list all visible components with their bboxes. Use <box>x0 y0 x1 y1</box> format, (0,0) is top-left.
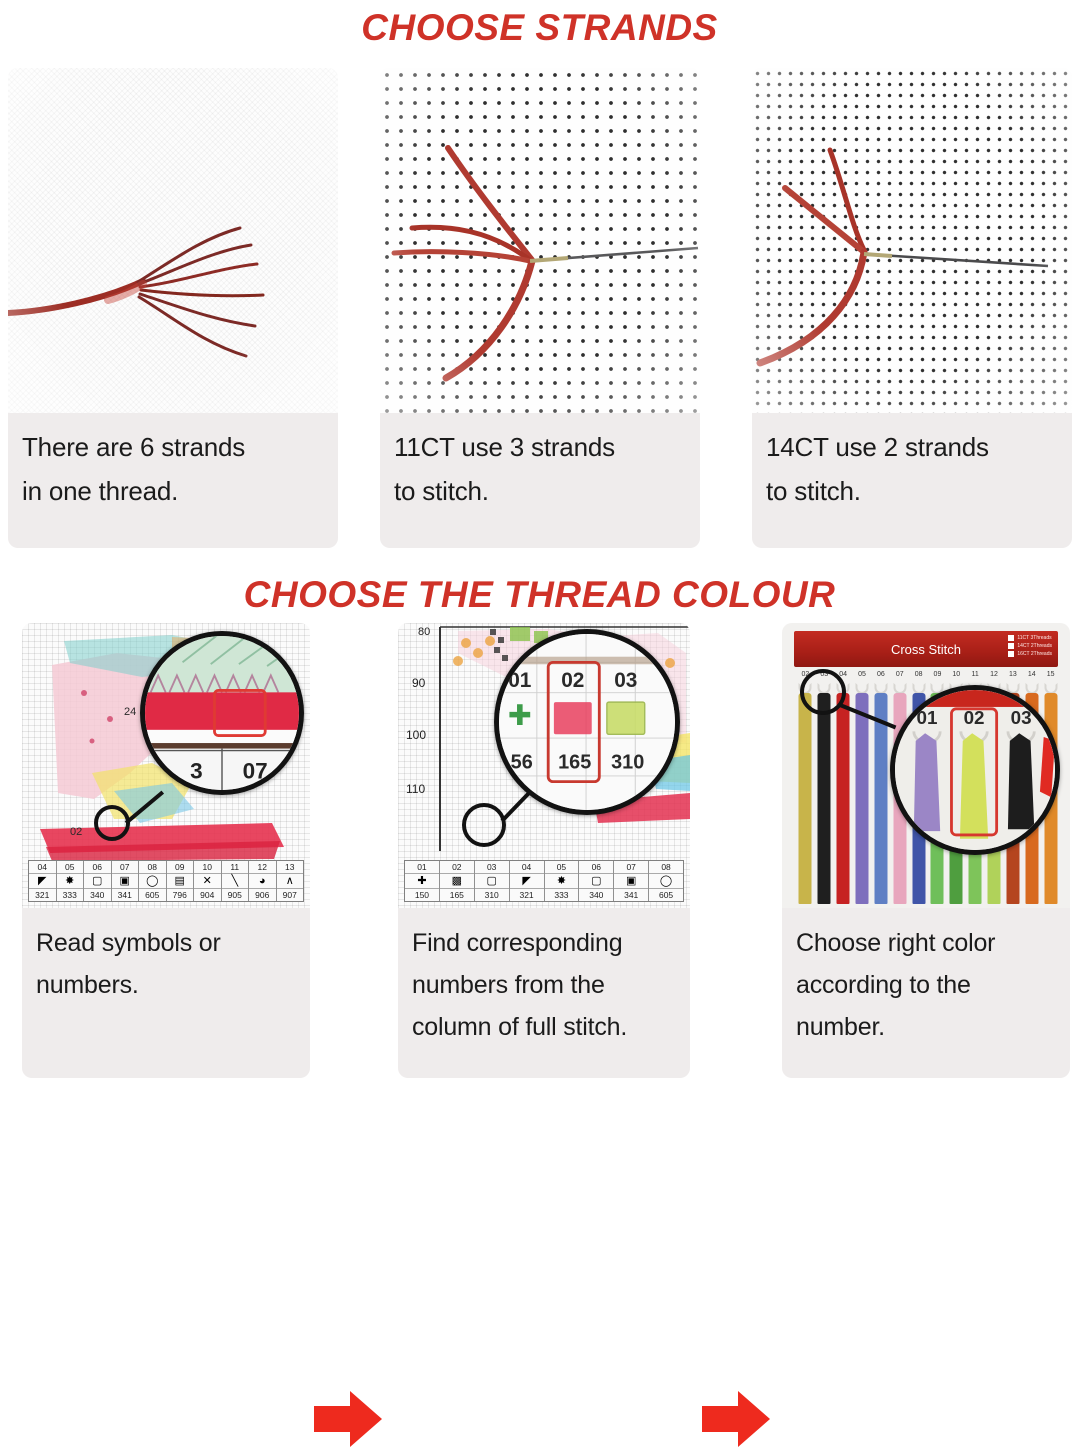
axis-tick-90: 90 <box>412 676 426 690</box>
key-symbol-icon: ∧ <box>277 873 304 889</box>
axis-tick-110: 110 <box>406 782 425 796</box>
magnified-skein-detail: 01 02 03 <box>895 690 1055 850</box>
card-choose-colour: Cross Stitch 11CT 3Threads 14CT 2Threads <box>782 623 1070 1078</box>
key-dmc-code: 906 <box>249 889 276 901</box>
key-index: 02 <box>440 861 474 873</box>
caption-read-symbols: Read symbols or numbers. <box>22 908 310 1016</box>
key-dmc-code: 904 <box>194 889 221 901</box>
key-column: 05✸333 <box>545 861 580 901</box>
magnified-index-01: 01 <box>508 669 531 692</box>
key-index: 11 <box>222 861 249 873</box>
skein <box>834 683 853 904</box>
legend-label: 16CT 2Threads <box>1017 651 1052 657</box>
card-read-symbols: 24 02 <box>22 623 310 1078</box>
key-index: 07 <box>112 861 139 873</box>
arrow-numbers-to-colour-icon <box>700 1388 772 1450</box>
legend-checkbox-icon <box>1008 643 1014 649</box>
key-column: 08◯605 <box>139 861 167 901</box>
axis-tick-100: 100 <box>406 728 426 742</box>
key-index: 04 <box>510 861 544 873</box>
legend-checkbox-icon <box>1008 651 1014 657</box>
key-index: 04 <box>29 861 56 873</box>
photo-pattern-chart: 24 02 <box>22 623 310 908</box>
key-index: 08 <box>649 861 683 873</box>
key-column: 12◕906 <box>249 861 277 901</box>
caption-line: Choose right color <box>796 922 1056 964</box>
key-index: 12 <box>249 861 276 873</box>
magnified-number-detail: 01 02 03 ✚ 56 165 310 <box>499 634 675 810</box>
photo-floss-card: Cross Stitch 11CT 3Threads 14CT 2Threads <box>782 623 1070 908</box>
key-dmc-code: 340 <box>84 889 111 901</box>
photo-14ct <box>752 68 1072 413</box>
section-title-choose-thread-colour: CHOOSE THE THREAD COLOUR <box>0 561 1079 623</box>
key-dmc-code: 905 <box>222 889 249 901</box>
card-11ct: 11CT use 3 strands to stitch. <box>380 68 700 548</box>
key-dmc-code: 333 <box>57 889 84 901</box>
legend-row: 11CT 3Threads <box>1008 635 1052 641</box>
key-column: 09▤796 <box>167 861 195 901</box>
key-dmc-code: 796 <box>167 889 194 901</box>
pattern-cell-label-24: 24 <box>124 706 136 718</box>
key-symbol-icon: ✕ <box>194 873 221 889</box>
key-dmc-code: 907 <box>277 889 304 901</box>
card-six-strands: There are 6 strands in one thread. <box>8 68 338 548</box>
legend-row: 16CT 2Threads <box>1008 651 1052 657</box>
key-symbol-icon: ▢ <box>84 873 111 889</box>
key-symbol-icon: ✸ <box>545 873 579 889</box>
key-column: 06▢340 <box>579 861 614 901</box>
magnified-skein-index-01: 01 <box>917 707 938 728</box>
magnified-code-03: 310 <box>611 751 644 773</box>
key-dmc-code: 341 <box>112 889 139 901</box>
key-symbol-icon: ✸ <box>57 873 84 889</box>
caption-line: Read symbols or <box>36 922 296 964</box>
legend-row: 14CT 2Threads <box>1008 643 1052 649</box>
key-index: 13 <box>277 861 304 873</box>
six-strand-thread-illustration <box>8 68 338 413</box>
magnified-number-07: 07 <box>243 759 268 784</box>
key-column: 01✚150 <box>405 861 440 901</box>
strands-card-row: There are 6 strands in one thread. <box>0 56 1079 561</box>
key-index: 08 <box>139 861 166 873</box>
key-dmc-code: 321 <box>29 889 56 901</box>
key-symbol-icon: ▤ <box>167 873 194 889</box>
floss-card-header: Cross Stitch 11CT 3Threads 14CT 2Threads <box>794 631 1058 667</box>
pattern-chart-canvas: 24 02 <box>22 623 310 908</box>
key-symbol-icon: ▣ <box>112 873 139 889</box>
caption-line: to stitch. <box>394 469 686 513</box>
magnified-index-02: 02 <box>561 669 584 692</box>
magnified-index-03: 03 <box>614 669 637 692</box>
key-symbol-icon: ◤ <box>510 873 544 889</box>
caption-line: column of full stitch. <box>412 1006 676 1048</box>
skein-floss <box>818 693 831 904</box>
skein-floss <box>837 693 850 904</box>
key-column: 07▣341 <box>112 861 140 901</box>
card-14ct: 14CT use 2 strands to stitch. <box>752 68 1072 548</box>
number-chart-canvas: 80 90 100 110 <box>398 623 690 908</box>
two-strand-needle-illustration <box>752 68 1072 413</box>
key-dmc-code: 333 <box>545 889 579 901</box>
key-index: 05 <box>545 861 579 873</box>
three-strand-needle-illustration <box>380 68 700 413</box>
key-index: 01 <box>405 861 439 873</box>
caption-line: There are 6 strands <box>22 425 324 469</box>
legend-label: 11CT 3Threads <box>1017 635 1051 641</box>
magnified-code-01: 56 <box>511 751 533 773</box>
magnifier-focus-circle <box>94 805 130 841</box>
magnified-pattern-detail: 3 07 <box>145 636 299 790</box>
key-symbol-icon: ✚ <box>405 873 439 889</box>
skein-floss <box>856 693 869 904</box>
caption-choose-colour: Choose right color according to the numb… <box>782 908 1070 1058</box>
key-column: 04◤321 <box>29 861 57 901</box>
key-dmc-code: 165 <box>440 889 474 901</box>
caption-line: Find corresponding <box>412 922 676 964</box>
caption-11ct: 11CT use 3 strands to stitch. <box>380 413 700 523</box>
caption-six-strands: There are 6 strands in one thread. <box>8 413 338 523</box>
key-index: 09 <box>167 861 194 873</box>
key-column: 10✕904 <box>194 861 222 901</box>
key-symbol-icon: ◕ <box>249 873 276 889</box>
symbol-key-table: 01✚15002▩16503▢31004◤32105✸33306▢34007▣3… <box>404 860 684 902</box>
key-symbol-icon: ◯ <box>649 873 683 889</box>
caption-line: to stitch. <box>766 469 1058 513</box>
key-column: 07▣341 <box>614 861 649 901</box>
key-index: 05 <box>57 861 84 873</box>
magnifier-lens: 01 02 03 <box>890 685 1060 855</box>
photo-six-strands <box>8 68 338 413</box>
key-index: 06 <box>579 861 613 873</box>
caption-line: according to the <box>796 964 1056 1006</box>
key-index: 06 <box>84 861 111 873</box>
photo-number-chart: 80 90 100 110 <box>398 623 690 908</box>
legend-checkbox-icon <box>1008 635 1014 641</box>
legend-label: 14CT 2Threads <box>1017 643 1052 649</box>
key-dmc-code: 341 <box>614 889 648 901</box>
arrow-symbols-to-numbers-icon <box>312 1388 384 1450</box>
caption-line: numbers from the <box>412 964 676 1006</box>
floss-card-legend: 11CT 3Threads 14CT 2Threads 16CT 2Thread… <box>1008 635 1052 657</box>
key-column: 11╲905 <box>222 861 250 901</box>
magnifier-lens: 01 02 03 ✚ 56 165 310 <box>494 629 680 815</box>
magnified-symbol-01: ✚ <box>508 700 532 732</box>
symbol-key-table: 04◤32105✸33306▢34007▣34108◯60509▤79610✕9… <box>28 860 304 902</box>
floss-card-title: Cross Stitch <box>891 642 961 657</box>
key-column: 05✸333 <box>57 861 85 901</box>
key-dmc-code: 321 <box>510 889 544 901</box>
colour-card-row: 24 02 <box>0 623 1079 1103</box>
key-column: 02▩165 <box>440 861 475 901</box>
key-column: 13∧907 <box>277 861 304 901</box>
key-dmc-code: 340 <box>579 889 613 901</box>
magnified-code-02: 165 <box>558 751 591 773</box>
key-symbol-icon: ▣ <box>614 873 648 889</box>
key-dmc-code: 150 <box>405 889 439 901</box>
key-dmc-code: 605 <box>139 889 166 901</box>
caption-line: 11CT use 3 strands <box>394 425 686 469</box>
magnifier-lens: 3 07 <box>140 631 304 795</box>
photo-11ct <box>380 68 700 413</box>
key-dmc-code: 310 <box>475 889 509 901</box>
key-symbol-icon: ▢ <box>475 873 509 889</box>
magnified-skein-index-03: 03 <box>1011 707 1032 728</box>
key-dmc-code: 605 <box>649 889 683 901</box>
magnifier-focus-circle <box>800 669 846 715</box>
axis-tick-80: 80 <box>418 626 430 638</box>
key-column: 04◤321 <box>510 861 545 901</box>
key-index: 10 <box>194 861 221 873</box>
caption-line: 14CT use 2 strands <box>766 425 1058 469</box>
caption-line: number. <box>796 1006 1056 1048</box>
key-index: 03 <box>475 861 509 873</box>
key-column: 08◯605 <box>649 861 683 901</box>
key-index: 07 <box>614 861 648 873</box>
section-title-choose-strands: CHOOSE STRANDS <box>0 0 1079 56</box>
card-find-numbers: 80 90 100 110 <box>398 623 690 1078</box>
key-column: 03▢310 <box>475 861 510 901</box>
skein <box>815 683 834 904</box>
key-symbol-icon: ╲ <box>222 873 249 889</box>
caption-line: numbers. <box>36 964 296 1006</box>
key-symbol-icon: ▢ <box>579 873 613 889</box>
skein-floss <box>799 693 812 904</box>
magnified-number-partial: 3 <box>190 759 203 784</box>
caption-14ct: 14CT use 2 strands to stitch. <box>752 413 1072 523</box>
caption-line: in one thread. <box>22 469 324 513</box>
pattern-cell-label-02: 02 <box>70 826 82 838</box>
key-symbol-icon: ▩ <box>440 873 474 889</box>
key-symbol-icon: ◤ <box>29 873 56 889</box>
floss-card: Cross Stitch 11CT 3Threads 14CT 2Threads <box>782 623 1070 908</box>
skein <box>796 683 815 904</box>
key-symbol-icon: ◯ <box>139 873 166 889</box>
caption-find-numbers: Find corresponding numbers from the colu… <box>398 908 690 1058</box>
key-column: 06▢340 <box>84 861 112 901</box>
